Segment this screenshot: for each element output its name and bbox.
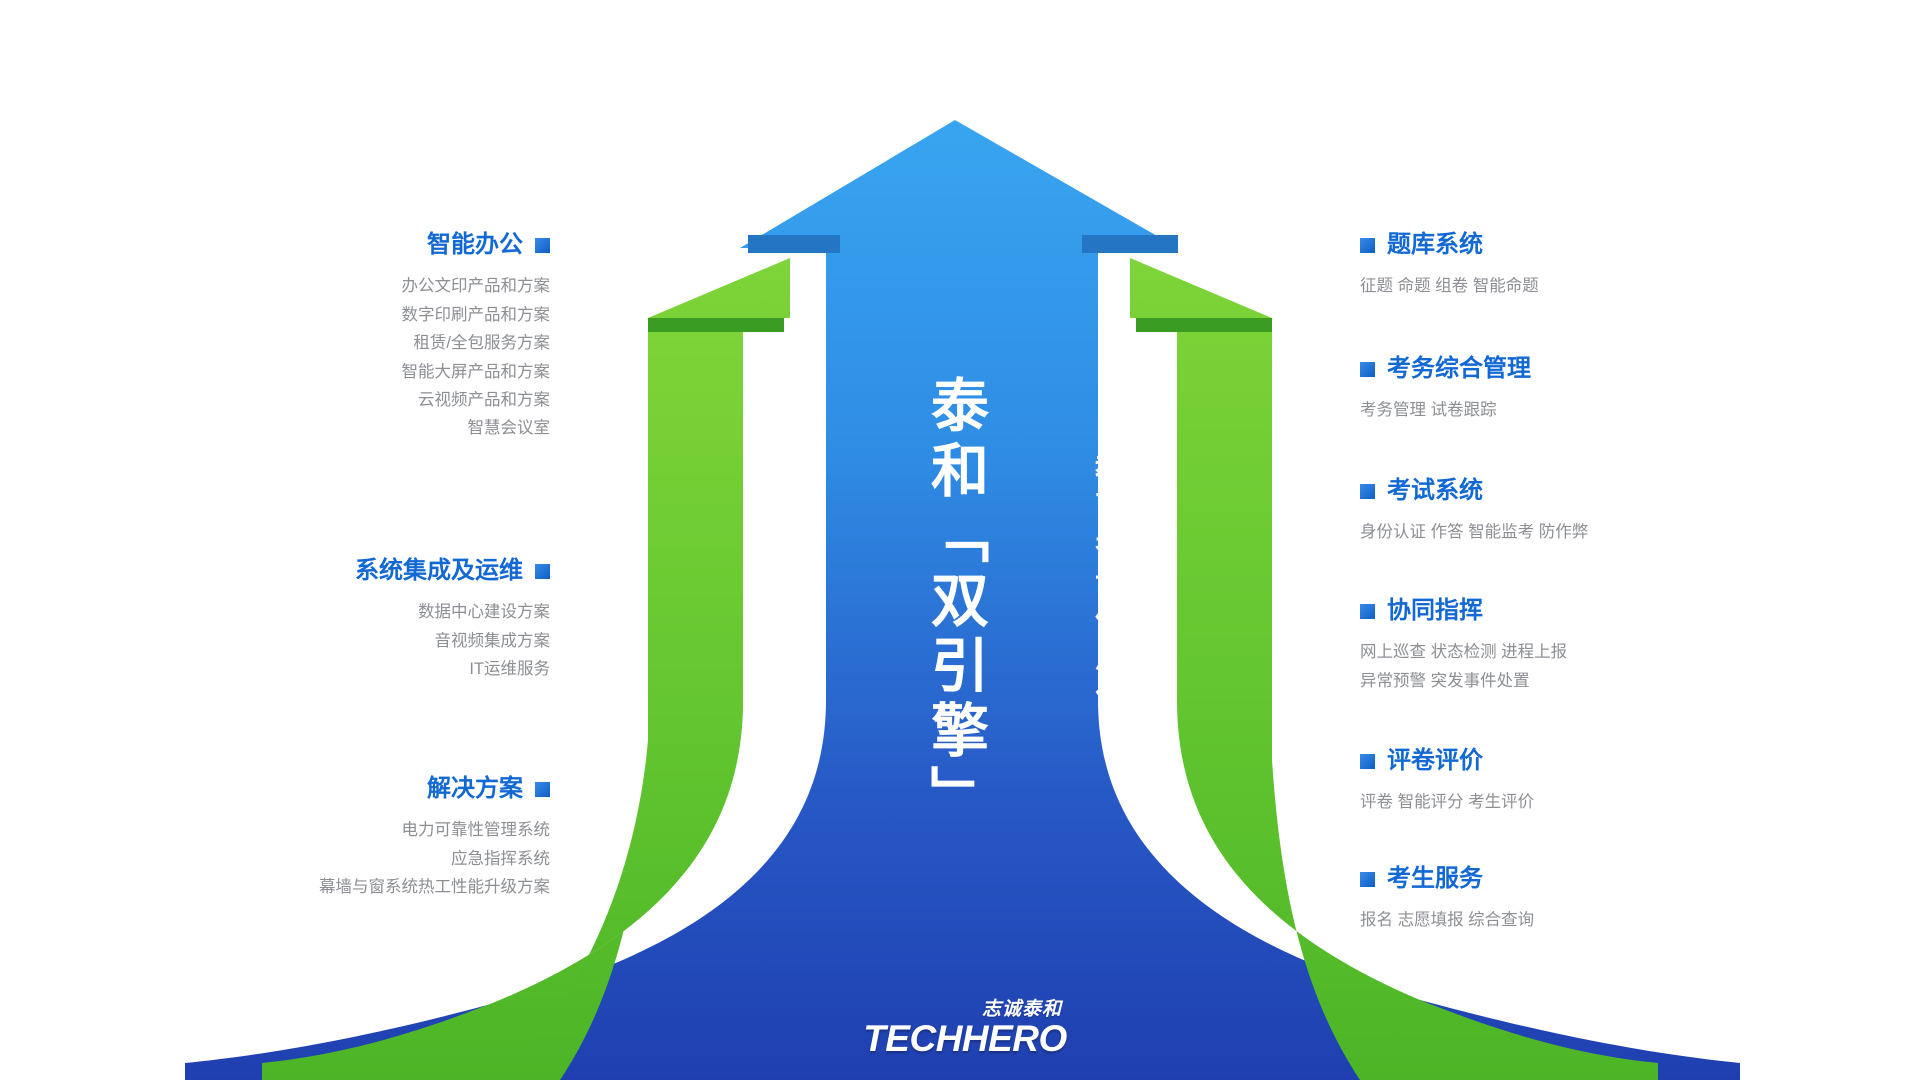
blue-square-icon — [1360, 754, 1375, 769]
logo-chinese-name: 志诚泰和 — [860, 1000, 1070, 1019]
block-heading-label: 题库系统 — [1387, 232, 1483, 258]
left-block-smart-office: 智能办公 办公文印产品和方案 数字印刷产品和方案 租赁/全包服务方案 智能大屏产… — [130, 232, 550, 443]
block-item-list: 考务管理 试卷跟踪 — [1360, 396, 1820, 424]
list-item: 电力可靠性管理系统 — [130, 816, 550, 844]
right-block-coordinated-command: 协同指挥 网上巡查 状态检测 进程上报 异常预警 突发事件处置 — [1360, 598, 1820, 695]
block-heading: 题库系统 — [1360, 232, 1820, 258]
blue-square-icon — [535, 782, 550, 797]
right-block-question-bank: 题库系统 征题 命题 组卷 智能命题 — [1360, 232, 1820, 301]
list-item: 幕墙与窗系统热工性能升级方案 — [130, 873, 550, 901]
block-item-list: 电力可靠性管理系统 应急指挥系统 幕墙与窗系统热工性能升级方案 — [130, 816, 550, 901]
list-item: 音视频集成方案 — [130, 627, 550, 655]
right-block-exam-system: 考试系统 身份认证 作答 智能监考 防作弊 — [1360, 478, 1820, 547]
list-item: 数字印刷产品和方案 — [130, 301, 550, 329]
block-heading: 系统集成及运维 — [130, 558, 550, 584]
green-right-tab — [1136, 318, 1272, 332]
infographic-canvas: IT综合服务 泰和「双引擎」 教育考试信息化 智能办公 办公文印产品和方案 数字… — [0, 0, 1920, 1080]
list-item: 云视频产品和方案 — [130, 386, 550, 414]
block-heading-label: 智能办公 — [427, 232, 523, 258]
block-item-list: 办公文印产品和方案 数字印刷产品和方案 租赁/全包服务方案 智能大屏产品和方案 … — [130, 272, 550, 442]
left-block-solutions: 解决方案 电力可靠性管理系统 应急指挥系统 幕墙与窗系统热工性能升级方案 — [130, 776, 550, 902]
block-heading: 考生服务 — [1360, 866, 1820, 892]
logo-english-name: TECHHERO — [860, 1020, 1070, 1059]
list-item: 考务管理 试卷跟踪 — [1360, 396, 1820, 424]
blue-square-icon — [1360, 238, 1375, 253]
blue-square-icon — [1360, 872, 1375, 887]
block-heading-label: 评卷评价 — [1387, 748, 1483, 774]
block-heading-label: 协同指挥 — [1387, 598, 1483, 624]
left-block-system-integration: 系统集成及运维 数据中心建设方案 音视频集成方案 IT运维服务 — [130, 558, 550, 684]
green-left-tab — [648, 318, 784, 332]
list-item: 网上巡查 状态检测 进程上报 — [1360, 638, 1820, 666]
list-item: 数据中心建设方案 — [130, 598, 550, 626]
list-item: 办公文印产品和方案 — [130, 272, 550, 300]
blue-square-icon — [1360, 362, 1375, 377]
company-logo: 志诚泰和 TECHHERO — [860, 1000, 1070, 1059]
block-heading: 协同指挥 — [1360, 598, 1820, 624]
block-item-list: 征题 命题 组卷 智能命题 — [1360, 272, 1820, 300]
block-item-list: 身份认证 作答 智能监考 防作弊 — [1360, 518, 1820, 546]
right-block-candidate-service: 考生服务 报名 志愿填报 综合查询 — [1360, 866, 1820, 935]
list-item: IT运维服务 — [130, 655, 550, 683]
block-item-list: 报名 志愿填报 综合查询 — [1360, 906, 1820, 934]
right-wing-label: 教育考试信息化 — [1092, 452, 1123, 717]
blue-square-icon — [1360, 484, 1375, 499]
block-item-list: 评卷 智能评分 考生评价 — [1360, 788, 1820, 816]
right-block-marking-evaluation: 评卷评价 评卷 智能评分 考生评价 — [1360, 748, 1820, 817]
blue-left-tab — [748, 235, 840, 253]
blue-square-icon — [535, 564, 550, 579]
center-arrow-label: 泰和「双引擎」 — [925, 375, 983, 830]
list-item: 身份认证 作答 智能监考 防作弊 — [1360, 518, 1820, 546]
block-heading: 考务综合管理 — [1360, 356, 1820, 382]
blue-square-icon — [535, 238, 550, 253]
block-item-list: 网上巡查 状态检测 进程上报 异常预警 突发事件处置 — [1360, 638, 1820, 695]
block-heading: 评卷评价 — [1360, 748, 1820, 774]
block-heading-label: 考试系统 — [1387, 478, 1483, 504]
block-heading: 解决方案 — [130, 776, 550, 802]
list-item: 智慧会议室 — [130, 414, 550, 442]
left-wing-label: IT综合服务 — [758, 470, 789, 705]
block-item-list: 数据中心建设方案 音视频集成方案 IT运维服务 — [130, 598, 550, 683]
block-heading-label: 考生服务 — [1387, 866, 1483, 892]
block-heading-label: 解决方案 — [427, 776, 523, 802]
list-item: 租赁/全包服务方案 — [130, 329, 550, 357]
list-item: 异常预警 突发事件处置 — [1360, 667, 1820, 695]
list-item: 报名 志愿填报 综合查询 — [1360, 906, 1820, 934]
list-item: 评卷 智能评分 考生评价 — [1360, 788, 1820, 816]
blue-right-tab — [1082, 235, 1178, 253]
right-block-exam-admin: 考务综合管理 考务管理 试卷跟踪 — [1360, 356, 1820, 425]
list-item: 智能大屏产品和方案 — [130, 358, 550, 386]
block-heading: 考试系统 — [1360, 478, 1820, 504]
block-heading-label: 考务综合管理 — [1387, 356, 1531, 382]
list-item: 应急指挥系统 — [130, 845, 550, 873]
list-item: 征题 命题 组卷 智能命题 — [1360, 272, 1820, 300]
blue-square-icon — [1360, 604, 1375, 619]
block-heading-label: 系统集成及运维 — [355, 558, 523, 584]
block-heading: 智能办公 — [130, 232, 550, 258]
